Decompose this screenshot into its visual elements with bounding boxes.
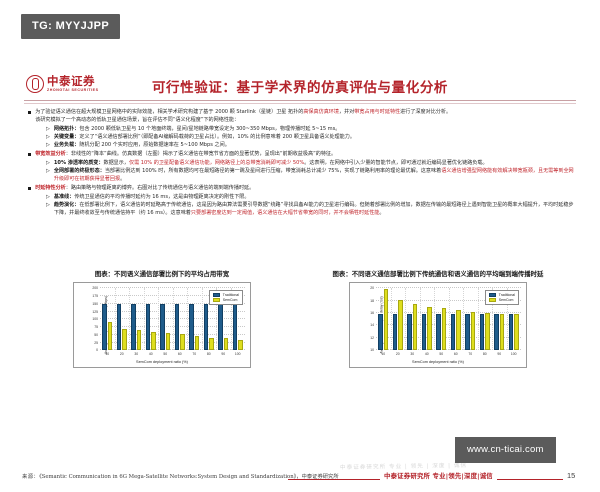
bandwidth-item-fulldeploy: ▷ 全网部署的终极形态：当部署比例达到 100% 时，所有数据均可在最短路径的第… [46, 167, 574, 184]
bar-traditional [378, 314, 382, 350]
setup-lead-2: 业务负载： [54, 142, 79, 148]
y-axis-tick: 175 [92, 294, 98, 298]
setup-lead-1: 关键变量： [54, 134, 79, 140]
setup-item-workload-text: 业务负载：随机分配 200 个实时应用，原始数据速率在 5~100 Mbps 之… [54, 141, 574, 149]
triangle-bullet-icon: ▷ [46, 159, 50, 167]
latency-item-trend: ▷ 趋势演化：在低部署比例下，语义通信的时延略高于传统通信，这是因为路由算法需要… [46, 201, 574, 218]
bar-group: 70 [187, 288, 202, 350]
vertical-gridline [202, 288, 203, 350]
slide-header: 中泰证券 ZHONGTAI SECURITIES 可行性验证：基于学术界的仿真评… [20, 74, 580, 102]
section-bandwidth: 带宽效益分析：非线性的“降本”曲线。仿真数据（左图）揭示了语义通信在带宽节省方面… [28, 150, 574, 158]
setup-item-topology: ▷ 网络拓扑：包含 2000 颗低轨卫星与 10 个地面终端，星间/星地链路带宽… [46, 125, 574, 133]
chart-bandwidth-xlabel: SemCom deployment ratio (%) [74, 360, 250, 364]
bar-traditional [146, 304, 150, 351]
page-number: 15 [563, 471, 579, 480]
x-axis-tick: 80 [207, 352, 211, 356]
slide-body: 为了验证语义通信在超大规模卫星网络中的实际效能，相关学术研究构建了基于 2000… [28, 107, 574, 217]
lat-lead-1: 趋势演化： [54, 202, 79, 208]
x-axis-tick: 30 [410, 352, 414, 356]
triangle-bullet-icon: ▷ [46, 193, 50, 201]
x-axis-tick: 20 [396, 352, 400, 356]
x-axis-tick: 90 [497, 352, 501, 356]
bar-semcom [471, 312, 475, 350]
section-bandwidth-head: 带宽效益分析 [35, 151, 66, 157]
section-latency-head: 时延特性分析 [35, 185, 66, 191]
bar-traditional [465, 314, 469, 350]
y-axis-tick: 20 [370, 286, 374, 290]
vertical-gridline [420, 288, 421, 350]
bar-semcom [238, 340, 242, 350]
bar-group: 60 [173, 288, 188, 350]
legend-entry-semcom: SemCom [213, 298, 239, 302]
triangle-bullet-icon: ▷ [46, 125, 50, 133]
bw-t1-1: 当部署比例达到 100% 时，所有数据均可在最短路径的第一跳及星间进行压缩，带宽… [105, 168, 441, 174]
chart-delay-caption: 图表：不同语义通信部署比例下传统通信和语义通信的平均端到端传播时延 [300, 270, 576, 279]
bar-semcom [485, 313, 489, 350]
bar-semcom [384, 289, 388, 350]
bar-semcom [209, 338, 213, 350]
lat-r1-1: 只要部署密度达到一定阈值，语义通信在大幅节省带宽的同时，并不会牺牲时延性能 [191, 210, 379, 216]
title-divider-thin [24, 103, 576, 104]
intro-part-4: 带宽占用与时延特性 [354, 109, 400, 115]
bar-group: 40 [144, 288, 159, 350]
x-axis-tick: 10 [105, 352, 109, 356]
bar-semcom [427, 307, 431, 350]
bar-group: 10 [100, 288, 115, 350]
chart-delay-legend: Traditional SemCom [485, 290, 519, 305]
square-bullet-icon [28, 111, 31, 114]
bar-group: 10 [376, 288, 391, 350]
legend-label-semcom: SemCom [499, 298, 514, 302]
setup-item-variable: ▷ 关键变量：定义了“语义通信部署比例”（即配备AI编解码载荷的卫星占比）。例如… [46, 133, 574, 141]
bar-semcom [398, 300, 402, 350]
legend-swatch-semcom [489, 298, 496, 302]
bar-semcom [514, 314, 518, 350]
latency-item-baseline-text: 基准线：传统卫星通信的平均传播时延约为 16 ms，这是由物理距离决定的刚性下限… [54, 193, 574, 201]
vertical-gridline [478, 288, 479, 350]
x-axis-tick: 50 [163, 352, 167, 356]
section-latency-body: ：路由策略与物理距离的博弈。右图对比了传统通信与语义通信的端到端传播时延。 [66, 185, 254, 191]
slide-page: TG: MYYJJPP 中泰证券 ZHONGTAI SECURITIES 可行性… [0, 0, 600, 480]
setup-lead-0: 网络拓扑： [54, 126, 79, 132]
legend-swatch-semcom [213, 298, 220, 302]
bar-semcom [456, 310, 460, 350]
bar-group: 60 [449, 288, 464, 350]
chart-delay: 图表：不同语义通信部署比例下传统通信和语义通信的平均端到端传播时延 Averag… [300, 270, 576, 390]
x-axis-tick: 40 [425, 352, 429, 356]
bw-t2-0: 。这表明，在网络中引入少量的智能节点，即可通过就近编码显著优化链路负载。 [304, 160, 487, 166]
x-axis-tick: 70 [468, 352, 472, 356]
bar-group: 70 [463, 288, 478, 350]
bar-traditional [436, 314, 440, 350]
slide-footer: 来源：《Semantic Communication in 6G Mega-Sa… [20, 470, 580, 492]
vertical-gridline [144, 288, 145, 350]
triangle-bullet-icon: ▷ [46, 141, 50, 149]
intro-part-1: 为了验证语义通信在超大规模卫星网络中的实际效能，相关学术研究构建了基于 2000… [35, 109, 303, 115]
title-divider [24, 100, 576, 101]
y-axis-tick: 0 [96, 348, 98, 352]
intro-paragraph: 为了验证语义通信在超大规模卫星网络中的实际效能，相关学术研究构建了基于 2000… [28, 108, 574, 125]
bw-t1-0: 数据显示， [103, 160, 128, 166]
section-latency: 时延特性分析：路由策略与物理距离的博弈。右图对比了传统通信与语义通信的端到端传播… [28, 184, 574, 192]
charts-row: 图表：不同语义通信部署比例下的平均占用带宽 Average occupied b… [24, 270, 576, 390]
vertical-gridline [405, 288, 406, 350]
setup-body-0: 包含 2000 颗低轨卫星与 10 个地面终端，星间/星地链路带宽设定为 300… [79, 126, 340, 132]
bar-semcom [413, 304, 417, 351]
bar-traditional [494, 314, 498, 350]
legend-swatch-traditional [213, 293, 220, 297]
chart-delay-plot: Average end-to-end path delay (ms) 10121… [349, 282, 527, 368]
bar-semcom [137, 330, 141, 350]
bar-semcom [108, 322, 112, 351]
bar-semcom [442, 308, 446, 350]
x-axis-tick: 100 [511, 352, 517, 356]
x-axis-tick: 20 [120, 352, 124, 356]
setup-body-2: 随机分配 200 个实时应用，原始数据速率在 5~100 Mbps 之间。 [79, 142, 229, 148]
x-axis-tick: 10 [381, 352, 385, 356]
bar-traditional [393, 314, 397, 350]
latency-item-trend-text: 趋势演化：在低部署比例下，语义通信的时延略高于传统通信，这是因为路由算法需要引导… [54, 201, 574, 218]
bar-group: 30 [405, 288, 420, 350]
y-axis-tick: 12 [370, 336, 374, 340]
y-axis-tick: 125 [92, 310, 98, 314]
bar-group: 40 [420, 288, 435, 350]
bandwidth-item-penetration-text: 10% 渗透率的质变：数据显示，仅需 10% 的卫星配备语义通信功能，网络路径上… [54, 159, 574, 167]
bar-traditional [509, 314, 513, 350]
vertical-gridline [449, 288, 450, 350]
triangle-bullet-icon: ▷ [46, 167, 50, 184]
legend-label-traditional: Traditional [499, 293, 515, 297]
setup-item-workload: ▷ 业务负载：随机分配 200 个实时应用，原始数据速率在 5~100 Mbps… [46, 141, 574, 149]
bar-traditional [204, 304, 208, 351]
intro-part-5: 进行了深度对比分析。 [400, 109, 451, 115]
x-axis-tick: 80 [483, 352, 487, 356]
bw-lead-0: 10% 渗透率的质变： [54, 160, 104, 166]
intro-paragraph-2: 该研究模拟了一个高动态的低轨卫星通信场景，旨在评估不同“语义化程度”下的网络性能… [35, 116, 574, 124]
chart-bandwidth-plot: Average occupied bandwidth (Mbps) 025507… [73, 282, 251, 368]
x-axis-tick: 90 [221, 352, 225, 356]
y-axis-tick: 100 [92, 317, 98, 321]
lat-t2-1: 。 [379, 210, 384, 216]
bar-traditional [480, 314, 484, 350]
bar-semcom [500, 314, 504, 351]
bar-traditional [117, 304, 121, 351]
chart-delay-xlabel: SemCom deployment ratio (%) [350, 360, 526, 364]
y-axis-tick: 16 [370, 311, 374, 315]
triangle-bullet-icon: ▷ [46, 133, 50, 141]
latency-item-baseline: ▷ 基准线：传统卫星通信的平均传播时延约为 16 ms，这是由物理距离决定的刚性… [46, 193, 574, 201]
source-label: 来源： [22, 474, 39, 480]
bar-traditional [160, 304, 164, 351]
chart-bandwidth: 图表：不同语义通信部署比例下的平均占用带宽 Average occupied b… [24, 270, 300, 390]
vertical-gridline [173, 288, 174, 350]
lat-t1-0: 传统卫星通信的平均传播时延约为 16 ms，这是由物理距离决定的刚性下限。 [74, 194, 249, 200]
legend-entry-traditional: Traditional [489, 293, 515, 297]
vertical-gridline [129, 288, 130, 350]
triangle-bullet-icon: ▷ [46, 201, 50, 218]
section-bandwidth-body: ：非线性的“降本”曲线。仿真数据（左图）揭示了语义通信在带宽节省方面的显著优势，… [66, 151, 336, 157]
y-axis-tick: 10 [370, 348, 374, 352]
bar-traditional [131, 304, 135, 351]
y-axis-tick: 75 [94, 325, 98, 329]
bar-traditional [451, 314, 455, 350]
legend-entry-semcom: SemCom [489, 298, 515, 302]
bar-traditional [422, 314, 426, 350]
x-axis-tick: 60 [178, 352, 182, 356]
legend-entry-traditional: Traditional [213, 293, 239, 297]
bar-group: 30 [129, 288, 144, 350]
y-axis-tick: 200 [92, 286, 98, 290]
chart-bandwidth-caption: 图表：不同语义通信部署比例下的平均占用带宽 [24, 270, 300, 279]
lat-lead-0: 基准线： [54, 194, 74, 200]
x-axis-tick: 50 [439, 352, 443, 356]
bar-semcom [151, 332, 155, 351]
vertical-gridline [187, 288, 188, 350]
section-latency-text: 时延特性分析：路由策略与物理距离的博弈。右图对比了传统通信与语义通信的端到端传播… [35, 184, 574, 192]
bar-semcom [180, 334, 184, 350]
setup-item-topology-text: 网络拓扑：包含 2000 颗低轨卫星与 10 个地面终端，星间/星地链路带宽设定… [54, 125, 574, 133]
bar-semcom [166, 333, 170, 351]
footer-brand: 中泰证券研究所 专业|领先|深度|诚信 [380, 471, 497, 480]
bar-group: 50 [434, 288, 449, 350]
bar-group: 20 [115, 288, 130, 350]
y-axis-tick: 25 [94, 341, 98, 345]
site-url-badge: www.cn-ticai.com [455, 437, 556, 463]
y-axis-tick: 150 [92, 302, 98, 306]
bw-lead-1: 全网部署的终极形态： [54, 168, 105, 174]
y-axis-tick: 14 [370, 323, 374, 327]
square-bullet-icon [28, 187, 31, 190]
intro-text: 为了验证语义通信在超大规模卫星网络中的实际效能，相关学术研究构建了基于 2000… [35, 108, 574, 125]
bandwidth-item-fulldeploy-text: 全网部署的终极形态：当部署比例达到 100% 时，所有数据均可在最短路径的第一跳… [54, 167, 574, 184]
bar-traditional [233, 304, 237, 351]
intro-part-2: 高保真仿真环境 [303, 109, 339, 115]
vertical-gridline [391, 288, 392, 350]
x-axis-tick: 40 [149, 352, 153, 356]
bar-semcom [195, 336, 199, 350]
bar-group: 20 [391, 288, 406, 350]
y-axis-tick: 18 [370, 299, 374, 303]
setup-body-1: 定义了“语义通信部署比例”（即配备AI编解码载荷的卫星占比）。例如，10% 的比… [79, 134, 355, 140]
bar-semcom [224, 338, 228, 350]
y-axis-tick: 50 [94, 333, 98, 337]
bar-traditional [218, 304, 222, 351]
x-axis-tick: 100 [235, 352, 241, 356]
legend-label-semcom: SemCom [223, 298, 238, 302]
x-axis-tick: 60 [454, 352, 458, 356]
bar-traditional [175, 304, 179, 351]
presentation-slide: 中泰证券 ZHONGTAI SECURITIES 可行性验证：基于学术界的仿真评… [20, 74, 580, 408]
slide-title: 可行性验证：基于学术界的仿真评估与量化分析 [20, 76, 580, 96]
x-axis-tick: 70 [192, 352, 196, 356]
intro-part-3: ，并对 [339, 109, 354, 115]
bw-r1-0: 仅需 10% 的卫星配备语义通信功能，网络路径上的总带宽消耗即可减少 50% [129, 160, 304, 166]
legend-label-traditional: Traditional [223, 293, 239, 297]
vertical-gridline [158, 288, 159, 350]
section-bandwidth-text: 带宽效益分析：非线性的“降本”曲线。仿真数据（左图）揭示了语义通信在带宽节省方面… [35, 150, 574, 158]
telegram-watermark-tag: TG: MYYJJPP [21, 14, 120, 39]
bar-group: 50 [158, 288, 173, 350]
vertical-gridline [115, 288, 116, 350]
bar-semcom [122, 329, 126, 351]
square-bullet-icon [28, 153, 31, 156]
x-axis-tick: 30 [134, 352, 138, 356]
vertical-gridline [434, 288, 435, 350]
bandwidth-item-penetration: ▷ 10% 渗透率的质变：数据显示，仅需 10% 的卫星配备语义通信功能，网络路… [46, 159, 574, 167]
bar-traditional [102, 304, 106, 351]
bar-traditional [189, 304, 193, 351]
chart-bandwidth-legend: Traditional SemCom [209, 290, 243, 305]
vertical-gridline [463, 288, 464, 350]
setup-item-variable-text: 关键变量：定义了“语义通信部署比例”（即配备AI编解码载荷的卫星占比）。例如，1… [54, 133, 574, 141]
legend-swatch-traditional [489, 293, 496, 297]
bar-traditional [407, 314, 411, 350]
bw-t2-1: 。 [120, 176, 125, 182]
